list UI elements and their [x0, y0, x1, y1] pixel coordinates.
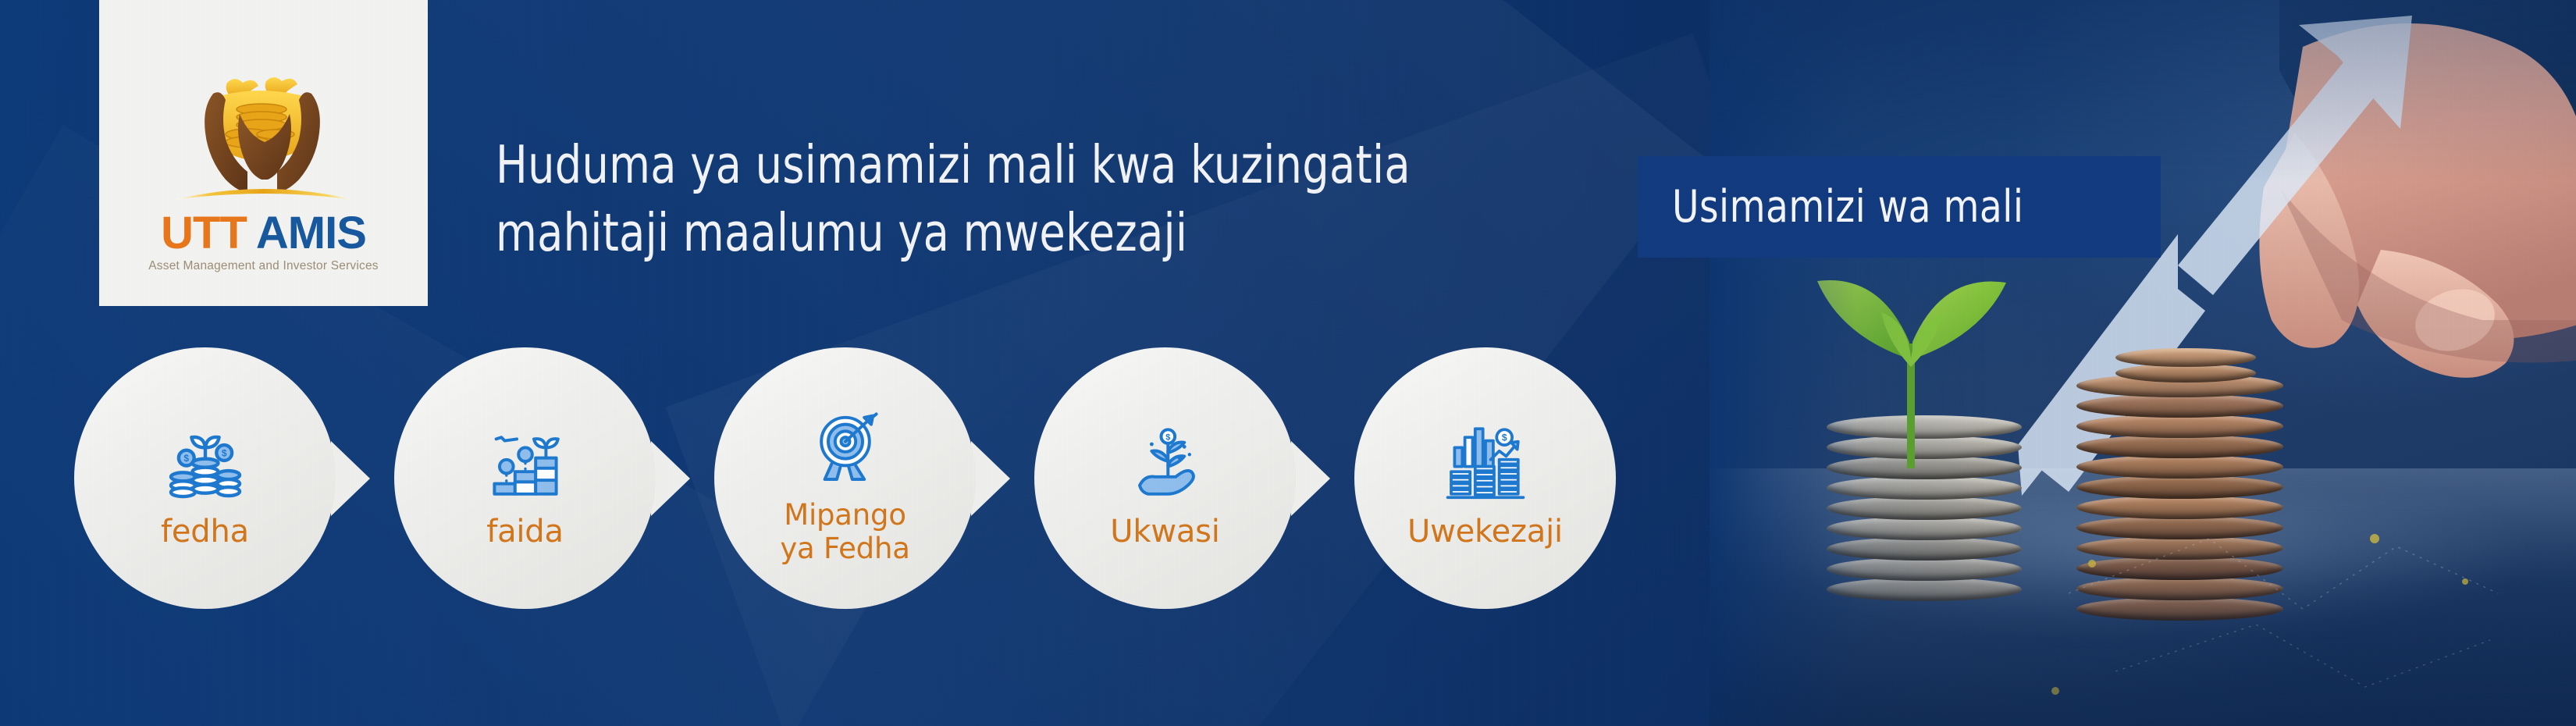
- logo-word-amis: AMIS: [256, 211, 366, 256]
- promo-banner: UTT AMIS Asset Management and Investor S…: [0, 0, 2576, 726]
- logo-tagline: Asset Management and Investor Services: [148, 259, 379, 273]
- coins-photo-panel: [1710, 0, 2576, 726]
- svg-text:$: $: [221, 448, 226, 459]
- hand-money-plant-icon: $: [1123, 418, 1208, 504]
- svg-text:$: $: [1501, 432, 1507, 443]
- page-title: Huduma ya usimamizi mali kwa kuzingatia …: [496, 131, 1430, 267]
- hands-holding-money-bags-logo-icon: [166, 61, 361, 209]
- bubble-tail-arrow: [971, 441, 1010, 516]
- bubble-label-line-2: ya Fedha: [780, 532, 909, 565]
- svg-text:$: $: [1165, 433, 1170, 443]
- headline-line-2: mahitaji maalumu ya mwekezaji: [496, 199, 1430, 267]
- status-badge-label: Usimamizi wa mali: [1672, 181, 2023, 233]
- target-arrow-icon: [802, 402, 888, 488]
- photo-vertical-fade: [1710, 0, 2576, 726]
- bubble-label: Uwekezaji: [1407, 515, 1563, 548]
- bubble-tail-arrow: [1291, 441, 1330, 516]
- bubble-label: Ukwasi: [1110, 515, 1219, 548]
- logo-wordmark: UTT AMIS: [161, 211, 366, 256]
- bubble-label: fedha: [161, 515, 249, 548]
- feature-bubble-faida[interactable]: faida: [394, 347, 656, 609]
- feature-bubble-fedha[interactable]: $ $ fedha: [74, 347, 336, 609]
- feature-bubble-ukwasi[interactable]: $ Ukwasi: [1034, 347, 1296, 609]
- logo-word-utt: UTT: [161, 211, 247, 256]
- feature-bubble-row: $ $ fedha: [0, 343, 1795, 640]
- growth-bar-plant-icon: [482, 418, 568, 504]
- bubble-tail-arrow: [331, 441, 370, 516]
- status-badge: Usimamizi wa mali: [1638, 156, 2161, 258]
- brand-logo-card: UTT AMIS Asset Management and Investor S…: [99, 0, 428, 306]
- bubble-label-line-1: Mipango: [780, 499, 909, 532]
- headline-line-1: Huduma ya usimamizi mali kwa kuzingatia: [496, 131, 1430, 199]
- bubble-label: Mipango ya Fedha: [780, 499, 909, 564]
- feature-bubble-mipango-ya-fedha[interactable]: Mipango ya Fedha: [714, 347, 976, 609]
- coin-stack-plant-icon: $ $: [162, 418, 248, 504]
- feature-bubble-uwekezaji[interactable]: $ Uwekezaji: [1354, 347, 1616, 609]
- bubble-tail-arrow: [651, 441, 690, 516]
- bar-chart-coins-arrow-icon: $: [1443, 418, 1528, 504]
- bubble-label: faida: [486, 515, 564, 548]
- svg-text:$: $: [183, 453, 189, 464]
